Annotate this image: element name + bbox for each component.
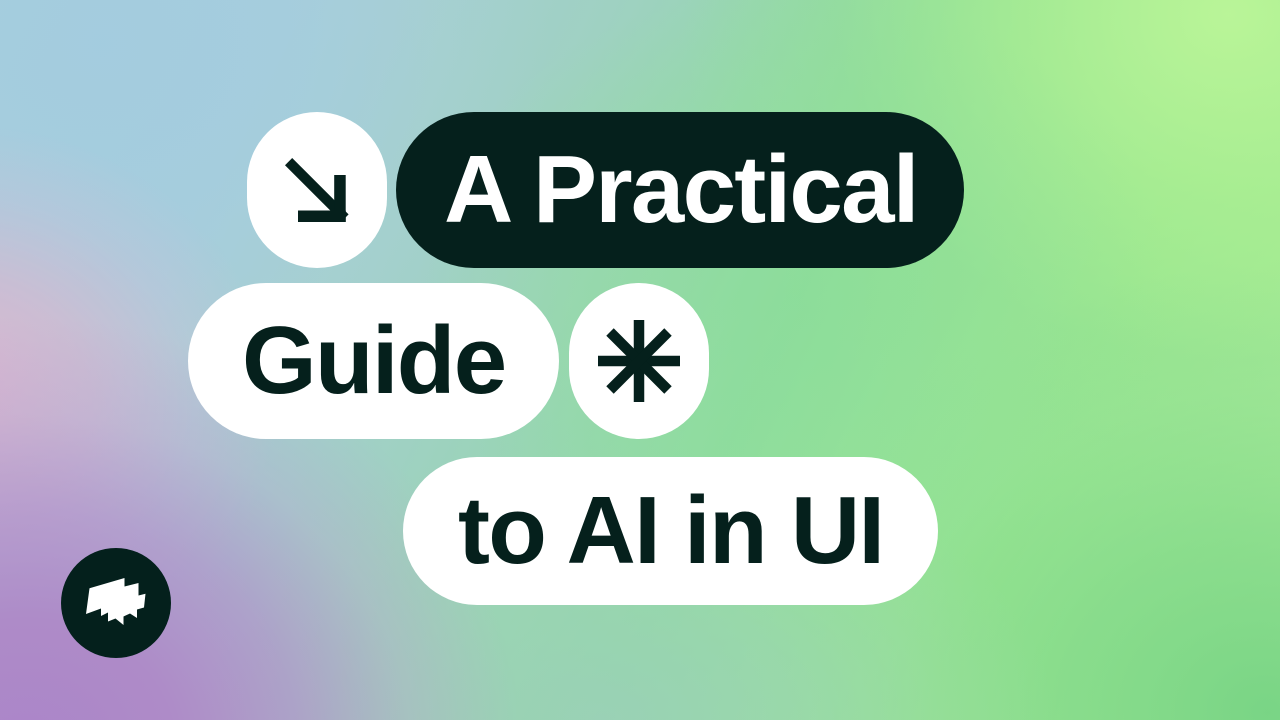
headline-line-1-text: A Practical (444, 142, 918, 238)
headline-line-2-text: Guide (242, 313, 505, 409)
brand-logo-badge (61, 548, 171, 658)
asterisk-icon-badge (569, 283, 709, 439)
title-card-poster: A Practical Guide to AI in U (0, 0, 1280, 720)
arrow-down-right-icon (279, 152, 355, 228)
headline-row-1: A Practical (247, 112, 964, 268)
headline-row-3: to AI in UI (403, 457, 938, 605)
headline-pill-to-ai-in-ui: to AI in UI (403, 457, 938, 605)
asterisk-icon (596, 318, 682, 404)
arrow-down-right-icon-badge (247, 112, 387, 268)
brand-logo-icon (83, 575, 149, 631)
headline-row-2: Guide (188, 283, 709, 439)
headline-pill-a-practical: A Practical (396, 112, 964, 268)
headline-line-3-text: to AI in UI (458, 483, 883, 579)
headline-pill-guide: Guide (188, 283, 559, 439)
